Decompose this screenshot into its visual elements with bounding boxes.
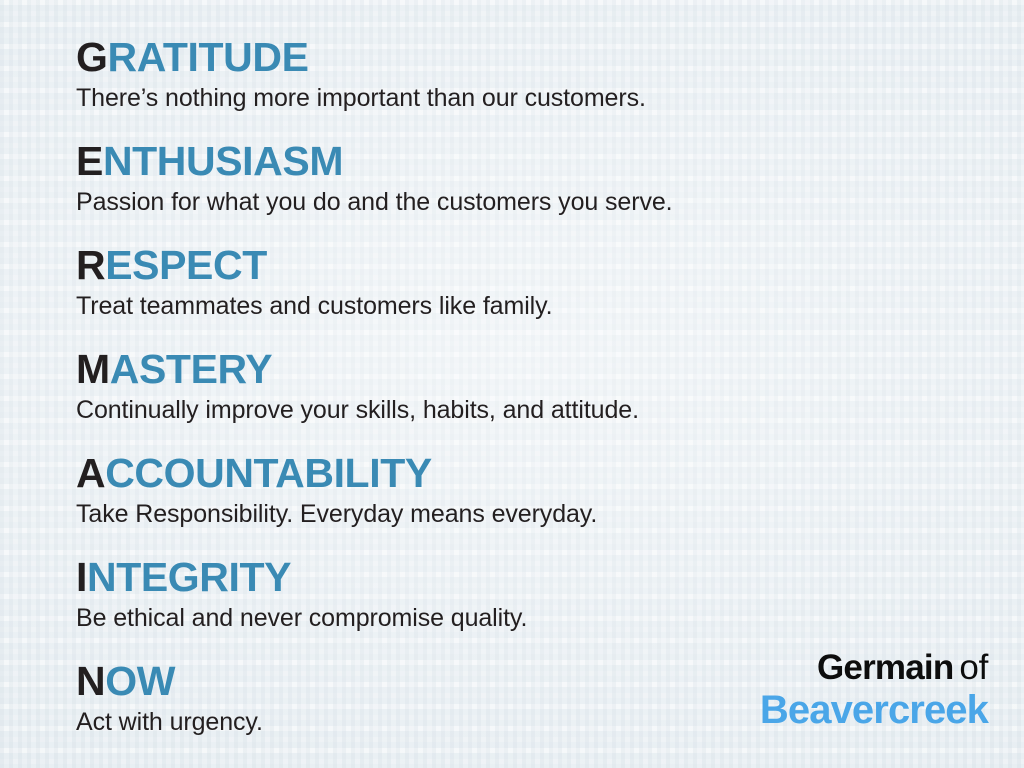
logo-of-text: of (953, 648, 988, 687)
value-description: Be ethical and never compromise quality. (76, 600, 1004, 635)
values-poster: GRATITUDE There’s nothing more important… (0, 0, 1024, 768)
value-heading: MASTERY (76, 346, 1004, 392)
value-heading-rest: ASTERY (110, 346, 272, 392)
logo-beavercreek-text: Beavercreek (760, 688, 988, 732)
value-heading-rest: OW (105, 658, 175, 704)
value-heading-rest: NTEGRITY (87, 554, 291, 600)
value-heading-rest: RATITUDE (108, 34, 309, 80)
logo-line-primary: Germainof (760, 648, 988, 688)
value-initial-letter: G (76, 34, 108, 80)
value-heading: GRATITUDE (76, 34, 1004, 80)
value-description: Treat teammates and customers like famil… (76, 288, 1004, 323)
value-initial-letter: R (76, 242, 105, 288)
value-entry: INTEGRITY Be ethical and never compromis… (76, 554, 1004, 654)
value-entry: GRATITUDE There’s nothing more important… (76, 34, 1004, 134)
value-heading-rest: ESPECT (105, 242, 267, 288)
value-entry: MASTERY Continually improve your skills,… (76, 346, 1004, 446)
value-description: Take Responsibility. Everyday means ever… (76, 496, 1004, 531)
value-description: Continually improve your skills, habits,… (76, 392, 1004, 427)
value-heading: INTEGRITY (76, 554, 1004, 600)
value-heading-rest: CCOUNTABILITY (105, 450, 432, 496)
value-heading: ACCOUNTABILITY (76, 450, 1004, 496)
value-entry: ACCOUNTABILITY Take Responsibility. Ever… (76, 450, 1004, 550)
value-entry: ENTHUSIASM Passion for what you do and t… (76, 138, 1004, 238)
value-initial-letter: E (76, 138, 103, 184)
brand-logo: Germainof Beavercreek (760, 648, 988, 732)
value-initial-letter: I (76, 554, 87, 600)
value-initial-letter: A (76, 450, 105, 496)
value-initial-letter: M (76, 346, 110, 392)
value-heading-rest: NTHUSIASM (103, 138, 343, 184)
value-entry: RESPECT Treat teammates and customers li… (76, 242, 1004, 342)
value-description: Passion for what you do and the customer… (76, 184, 1004, 219)
value-heading: ENTHUSIASM (76, 138, 1004, 184)
core-values-list: GRATITUDE There’s nothing more important… (76, 34, 1004, 743)
value-description: There’s nothing more important than our … (76, 80, 1004, 115)
logo-germain-text: Germain (817, 648, 953, 687)
value-initial-letter: N (76, 658, 105, 704)
value-heading: RESPECT (76, 242, 1004, 288)
